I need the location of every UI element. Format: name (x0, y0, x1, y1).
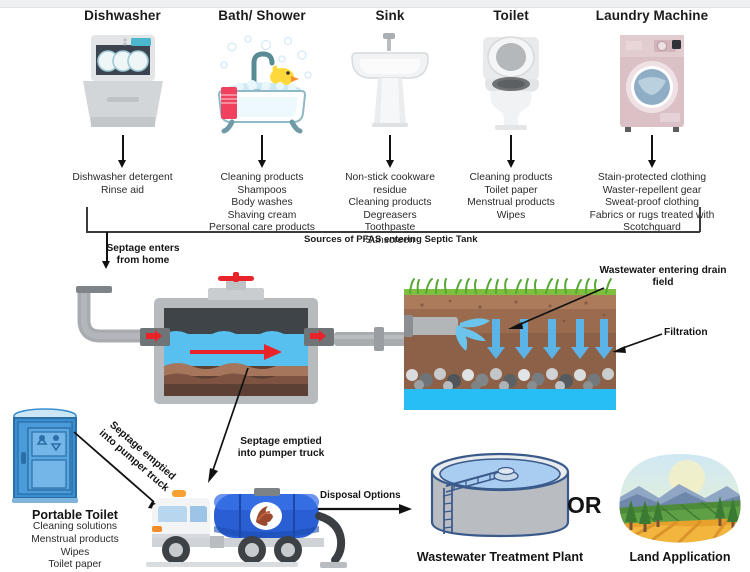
source-item: Toilet paper (452, 185, 570, 198)
portable-toilet-items: Cleaning solutions Menstrual products Wi… (0, 521, 150, 572)
annotation-wastewater-entering-drain-field: Wastewater entering drain field (588, 265, 738, 290)
list-item: Menstrual products (0, 534, 150, 547)
washing-machine-icon (602, 29, 702, 135)
bracket-label: Sources of PFAS entering Septic Tank (304, 234, 478, 245)
source-column-laundry-machine: Laundry Machine Stain-protected cl (562, 8, 742, 235)
source-item: Cleaning products (330, 197, 450, 210)
bracket-left-stub (86, 207, 88, 232)
leader-wastewater (500, 282, 610, 334)
source-item: Dishwasher detergent (50, 172, 195, 185)
source-item: Non-stick cookware (330, 172, 450, 185)
source-items-bath-shower: Cleaning products Shampoos Body washes S… (192, 172, 332, 235)
annotation-line: field (588, 277, 738, 289)
annotation-septage-emptied-tank: Septage emptied into pumper truck (216, 436, 346, 461)
source-items-laundry-machine: Stain-protected clothing Waster-repellen… (562, 172, 742, 235)
top-strip (0, 0, 750, 8)
source-item: Shampoos (192, 185, 332, 198)
source-item: Body washes (192, 197, 332, 210)
bracket-horizontal (86, 231, 700, 233)
arrow-laundry-machine (651, 135, 653, 161)
annotation-line: from home (88, 255, 198, 267)
sink-icon (344, 29, 436, 135)
leader-septage-emptied-tank (200, 365, 260, 485)
annotation-disposal-options: Disposal Options (320, 490, 401, 501)
bracket-right-stub (699, 207, 701, 232)
annotation-filtration: Filtration (664, 327, 708, 339)
list-item: Cleaning solutions (0, 521, 150, 534)
source-item: Wipes (452, 210, 570, 223)
source-item: residue (330, 185, 450, 198)
source-column-bath-shower: Bath/ Shower (192, 8, 332, 235)
source-item: Shaving cream (192, 210, 332, 223)
source-item: Scotchguard (562, 222, 742, 235)
list-item: Wipes (0, 547, 150, 560)
source-column-dishwasher: Dishwasher Dishwasher detergent Rinse ai… (50, 8, 195, 197)
source-title-dishwasher: Dishwasher (50, 8, 195, 23)
annotation-line: Septage emptied (216, 436, 346, 448)
arrow-disposal-options (318, 504, 414, 518)
annotation-line: Wastewater entering drain (588, 265, 738, 277)
arrow-toilet (510, 135, 512, 161)
source-item: Rinse aid (50, 185, 195, 198)
infographic-page: Dishwasher Dishwasher detergent Rinse ai… (0, 0, 750, 572)
farm-field-icon (615, 452, 745, 548)
toilet-icon (465, 29, 557, 135)
source-item: Stain-protected clothing (562, 172, 742, 185)
pumper-truck-icon (142, 482, 347, 570)
source-item: Waster-repellent gear (562, 185, 742, 198)
source-column-toilet: Toilet Cleaning products Toilet paper Me… (452, 8, 570, 222)
source-item: Fabrics or rugs treated with (562, 210, 742, 223)
arrow-sink (389, 135, 391, 161)
source-title-sink: Sink (330, 8, 450, 23)
arrow-dishwasher (122, 135, 124, 161)
source-column-sink: Sink Non-stick cookware residue Cleaning… (330, 8, 450, 248)
source-title-laundry-machine: Laundry Machine (562, 8, 742, 23)
wastewater-treatment-plant-title: Wastewater Treatment Plant (410, 550, 590, 564)
arrow-bath-shower (261, 135, 263, 161)
list-item: Toilet paper (0, 559, 150, 572)
source-item: Cleaning products (192, 172, 332, 185)
source-title-bath-shower: Bath/ Shower (192, 8, 332, 23)
bathtub-icon (196, 29, 328, 135)
source-item: Degreasers (330, 210, 450, 223)
source-title-toilet: Toilet (452, 8, 570, 23)
or-divider: OR (567, 492, 602, 519)
source-items-toilet: Cleaning products Toilet paper Menstrual… (452, 172, 570, 222)
source-item: Sweat-proof clothing (562, 197, 742, 210)
source-item: Cleaning products (452, 172, 570, 185)
land-application-title: Land Application (610, 550, 750, 564)
annotation-line: Septage enters (88, 243, 198, 255)
annotation-line: into pumper truck (216, 448, 346, 460)
source-item: Menstrual products (452, 197, 570, 210)
source-items-dishwasher: Dishwasher detergent Rinse aid (50, 172, 195, 197)
leader-filtration (608, 332, 664, 354)
annotation-septage-enters: Septage enters from home (88, 243, 198, 268)
clarifier-tank-icon (420, 448, 580, 548)
dishwasher-icon (69, 29, 177, 135)
